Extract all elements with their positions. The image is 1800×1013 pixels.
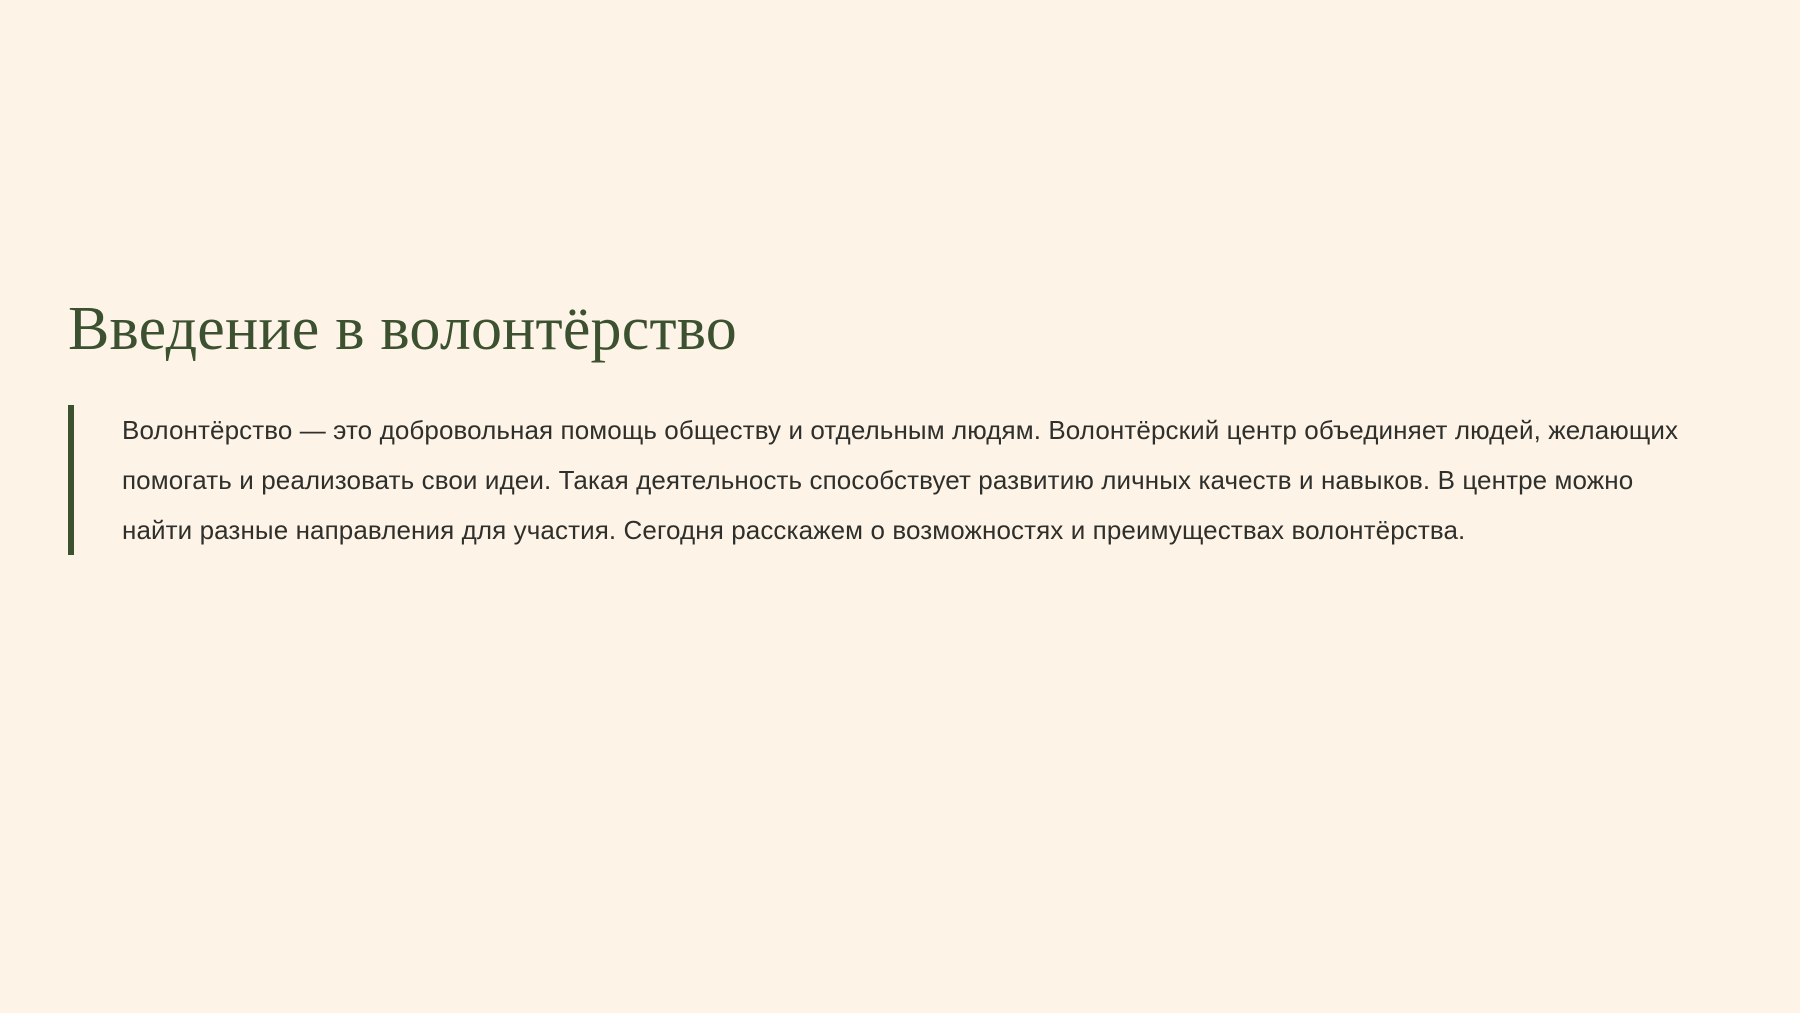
body-text-wrapper: Волонтёрство — это добровольная помощь о… [74, 405, 1688, 555]
slide-root: Введение в волонтёрство Волонтёрство — э… [0, 0, 1800, 1013]
page-title: Введение в волонтёрство [68, 296, 1728, 363]
slide-content: Введение в волонтёрство Волонтёрство — э… [68, 296, 1728, 555]
body-quote-block: Волонтёрство — это добровольная помощь о… [68, 405, 1688, 555]
body-paragraph: Волонтёрство — это добровольная помощь о… [122, 405, 1688, 555]
